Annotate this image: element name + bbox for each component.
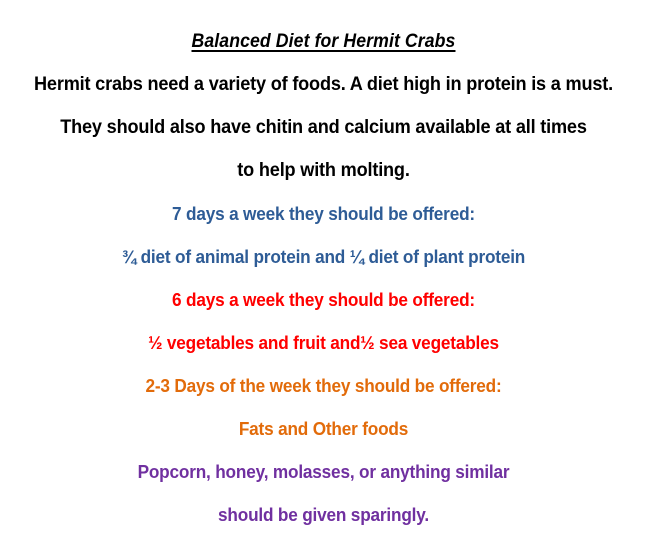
diet-infographic: Balanced Diet for Hermit Crabs Hermit cr… bbox=[0, 0, 647, 534]
intro-line-1: Hermit crabs need a variety of foods. A … bbox=[23, 63, 625, 106]
sparing-feeding-line-2: should be given sparingly. bbox=[23, 493, 625, 536]
daily-feeding-detail: ¾ diet of animal protein and ¼ diet of p… bbox=[23, 235, 625, 278]
six-day-feeding-heading: 6 days a week they should be offered: bbox=[23, 278, 625, 321]
page-title: Balanced Diet for Hermit Crabs bbox=[23, 20, 625, 63]
occasional-feeding-heading: 2-3 Days of the week they should be offe… bbox=[23, 364, 625, 407]
intro-line-2: They should also have chitin and calcium… bbox=[23, 106, 625, 149]
intro-line-3: to help with molting. bbox=[23, 149, 625, 192]
occasional-feeding-detail: Fats and Other foods bbox=[23, 407, 625, 450]
sparing-feeding-line-1: Popcorn, honey, molasses, or anything si… bbox=[23, 450, 625, 493]
daily-feeding-heading: 7 days a week they should be offered: bbox=[23, 192, 625, 235]
six-day-feeding-detail: ½ vegetables and fruit and½ sea vegetabl… bbox=[23, 321, 625, 364]
